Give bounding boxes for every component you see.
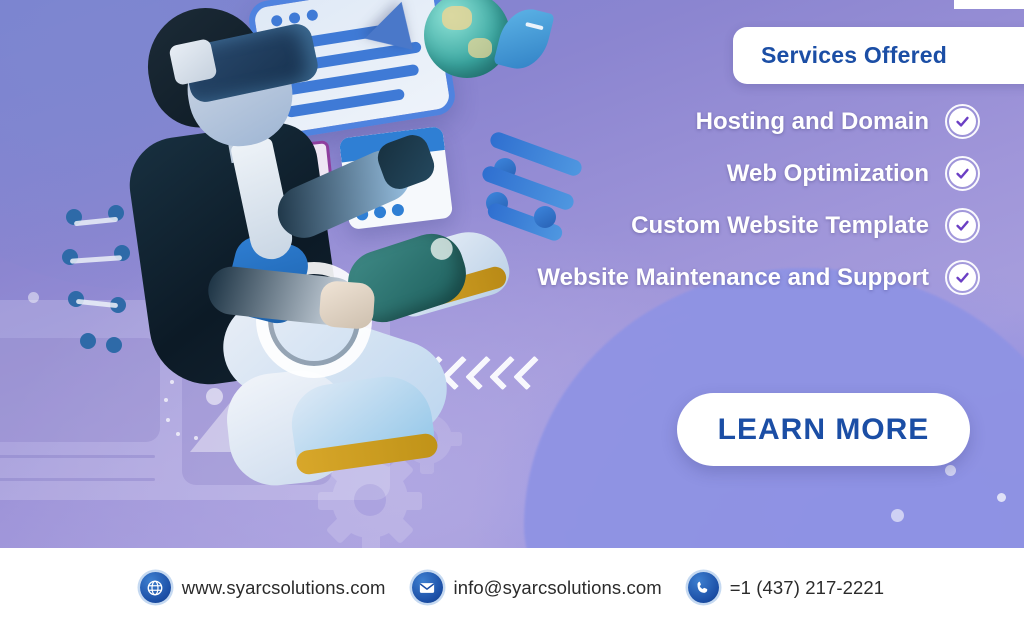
check-circle-icon: [945, 208, 980, 243]
email-text: info@syarcsolutions.com: [454, 577, 662, 599]
decorative-dot: [997, 493, 1006, 502]
page-title: Services Offered: [761, 42, 947, 69]
service-item: Web Optimization: [340, 156, 980, 191]
services-list: Hosting and Domain Web Optimization: [340, 104, 980, 295]
phone-icon: [688, 572, 719, 603]
service-item: Hosting and Domain: [340, 104, 980, 139]
check-circle-icon: [945, 104, 980, 139]
service-label: Web Optimization: [727, 160, 929, 188]
top-white-strip: [954, 0, 1024, 9]
contact-phone[interactable]: =1 (437) 217-2221: [688, 572, 884, 603]
globe-icon: [140, 572, 171, 603]
services-offered-banner: Services Offered Hosting and Domain Web …: [0, 0, 1024, 627]
envelope-icon: [412, 572, 443, 603]
website-text: www.syarcsolutions.com: [182, 577, 386, 599]
learn-more-button[interactable]: LEARN MORE: [677, 393, 970, 466]
service-item: Website Maintenance and Support: [340, 260, 980, 295]
phone-text: =1 (437) 217-2221: [730, 577, 884, 599]
service-label: Hosting and Domain: [696, 108, 929, 136]
contact-email[interactable]: info@syarcsolutions.com: [412, 572, 662, 603]
services-offered-header: Services Offered: [733, 27, 1024, 84]
service-label: Website Maintenance and Support: [537, 264, 929, 292]
contact-footer: www.syarcsolutions.com info@syarcsolutio…: [0, 548, 1024, 627]
check-circle-icon: [945, 156, 980, 191]
service-label: Custom Website Template: [631, 212, 929, 240]
service-item: Custom Website Template: [340, 208, 980, 243]
decorative-dot: [945, 465, 956, 476]
check-circle-icon: [945, 260, 980, 295]
contact-website[interactable]: www.syarcsolutions.com: [140, 572, 386, 603]
decorative-dot: [891, 509, 904, 522]
